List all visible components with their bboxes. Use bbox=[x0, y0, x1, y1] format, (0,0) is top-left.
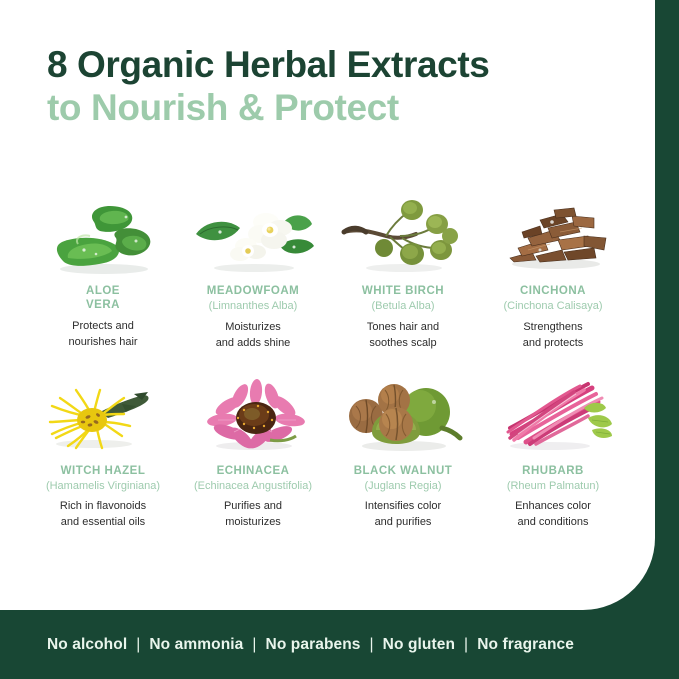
ingredient-latin-name: (Limnanthes Alba) bbox=[209, 299, 298, 313]
claim-no-parabens: No parabens bbox=[266, 636, 361, 654]
ingredient-card-black-walnut: BLACK WALNUT (Juglans Regia) Intensifies… bbox=[328, 372, 478, 532]
rhubarb-image bbox=[488, 372, 618, 458]
ingredient-name-line1: ALOE bbox=[86, 285, 120, 297]
ingredient-latin-name: (Rheum Palmatun) bbox=[507, 479, 599, 493]
aloe-vera-image bbox=[38, 192, 168, 278]
claim-separator: | bbox=[252, 636, 256, 654]
ingredient-description: Strengthens and protects bbox=[523, 320, 584, 352]
ingredient-name: ECHINACEA bbox=[217, 464, 290, 478]
claim-no-fragrance: No fragrance bbox=[477, 636, 574, 654]
ingredient-name: BLACK WALNUT bbox=[354, 464, 453, 478]
ingredient-card-rhubarb: RHUBARB (Rheum Palmatun) Enhances color … bbox=[478, 372, 628, 532]
desc-line2: and conditions bbox=[515, 515, 591, 531]
desc-line2: soothes scalp bbox=[367, 336, 439, 352]
ingredient-card-echinacea: ECHINACEA (Echinacea Angustifolia) Purif… bbox=[178, 372, 328, 532]
ingredient-grid: ALOE VERA Protects and nourishes hair bbox=[28, 192, 628, 531]
ingredient-latin-name: (Juglans Regia) bbox=[364, 479, 441, 493]
claim-no-alcohol: No alcohol bbox=[47, 636, 127, 654]
desc-line2: and essential oils bbox=[60, 515, 146, 531]
ingredient-name: RHUBARB bbox=[522, 464, 584, 478]
ingredient-name: MEADOWFOAM bbox=[207, 284, 300, 298]
ingredient-description: Rich in flavonoids and essential oils bbox=[60, 499, 146, 531]
desc-line1: Intensifies color bbox=[365, 499, 441, 515]
desc-line2: nourishes hair bbox=[68, 335, 137, 351]
infographic-poster: 8 Organic Herbal Extracts to Nourish & P… bbox=[0, 0, 679, 679]
desc-line1: Tones hair and bbox=[367, 320, 439, 336]
desc-line2: moisturizes bbox=[224, 515, 282, 531]
witch-hazel-image bbox=[38, 372, 168, 458]
page-subtitle: to Nourish & Protect bbox=[47, 87, 627, 128]
black-walnut-image bbox=[338, 372, 468, 458]
echinacea-image bbox=[188, 372, 318, 458]
desc-line2: and protects bbox=[523, 336, 584, 352]
ingredient-card-witch-hazel: WITCH HAZEL (Hamamelis Virginiana) Rich … bbox=[28, 372, 178, 532]
desc-line1: Enhances color bbox=[515, 499, 591, 515]
desc-line2: and adds shine bbox=[216, 336, 291, 352]
white-birch-image bbox=[338, 192, 468, 278]
ingredient-card-white-birch: WHITE BIRCH (Betula Alba) Tones hair and… bbox=[328, 192, 478, 352]
ingredient-card-aloe-vera: ALOE VERA Protects and nourishes hair bbox=[28, 192, 178, 352]
ingredient-description: Tones hair and soothes scalp bbox=[367, 320, 439, 352]
meadowfoam-image bbox=[188, 192, 318, 278]
claim-no-gluten: No gluten bbox=[383, 636, 455, 654]
claim-separator: | bbox=[370, 636, 374, 654]
desc-line1: Purifies and bbox=[224, 499, 282, 515]
desc-line1: Protects and bbox=[68, 319, 137, 335]
ingredient-card-cinchona: CINCHONA (Cinchona Calisaya) Strengthens… bbox=[478, 192, 628, 352]
ingredient-description: Enhances color and conditions bbox=[515, 499, 591, 531]
desc-line1: Rich in flavonoids bbox=[60, 499, 146, 515]
desc-line1: Moisturizes bbox=[216, 320, 291, 336]
page-title: 8 Organic Herbal Extracts bbox=[47, 44, 627, 85]
ingredient-name: WITCH HAZEL bbox=[61, 464, 146, 478]
header: 8 Organic Herbal Extracts to Nourish & P… bbox=[47, 44, 627, 129]
ingredient-name: WHITE BIRCH bbox=[362, 284, 444, 298]
ingredient-latin-name: (Echinacea Angustifolia) bbox=[194, 479, 312, 493]
claim-separator: | bbox=[136, 636, 140, 654]
ingredient-name-line2: VERA bbox=[86, 299, 120, 311]
desc-line2: and purifies bbox=[365, 515, 441, 531]
claim-separator: | bbox=[464, 636, 468, 654]
ingredient-description: Protects and nourishes hair bbox=[68, 319, 137, 351]
ingredient-description: Moisturizes and adds shine bbox=[216, 320, 291, 352]
claims-list: No alcohol | No ammonia | No parabens | … bbox=[47, 636, 574, 654]
ingredient-latin-name: (Cinchona Calisaya) bbox=[503, 299, 602, 313]
ingredient-description: Purifies and moisturizes bbox=[224, 499, 282, 531]
ingredient-description: Intensifies color and purifies bbox=[365, 499, 441, 531]
ingredient-latin-name: (Hamamelis Virginiana) bbox=[46, 479, 160, 493]
claim-no-ammonia: No ammonia bbox=[149, 636, 243, 654]
ingredient-name: CINCHONA bbox=[520, 284, 586, 298]
ingredient-card-meadowfoam: MEADOWFOAM (Limnanthes Alba) Moisturizes… bbox=[178, 192, 328, 352]
claims-footer: No alcohol | No ammonia | No parabens | … bbox=[0, 610, 679, 679]
ingredient-latin-name: (Betula Alba) bbox=[372, 299, 435, 313]
ingredient-name: ALOE VERA bbox=[86, 284, 120, 313]
cinchona-image bbox=[488, 192, 618, 278]
desc-line1: Strengthens bbox=[523, 320, 584, 336]
